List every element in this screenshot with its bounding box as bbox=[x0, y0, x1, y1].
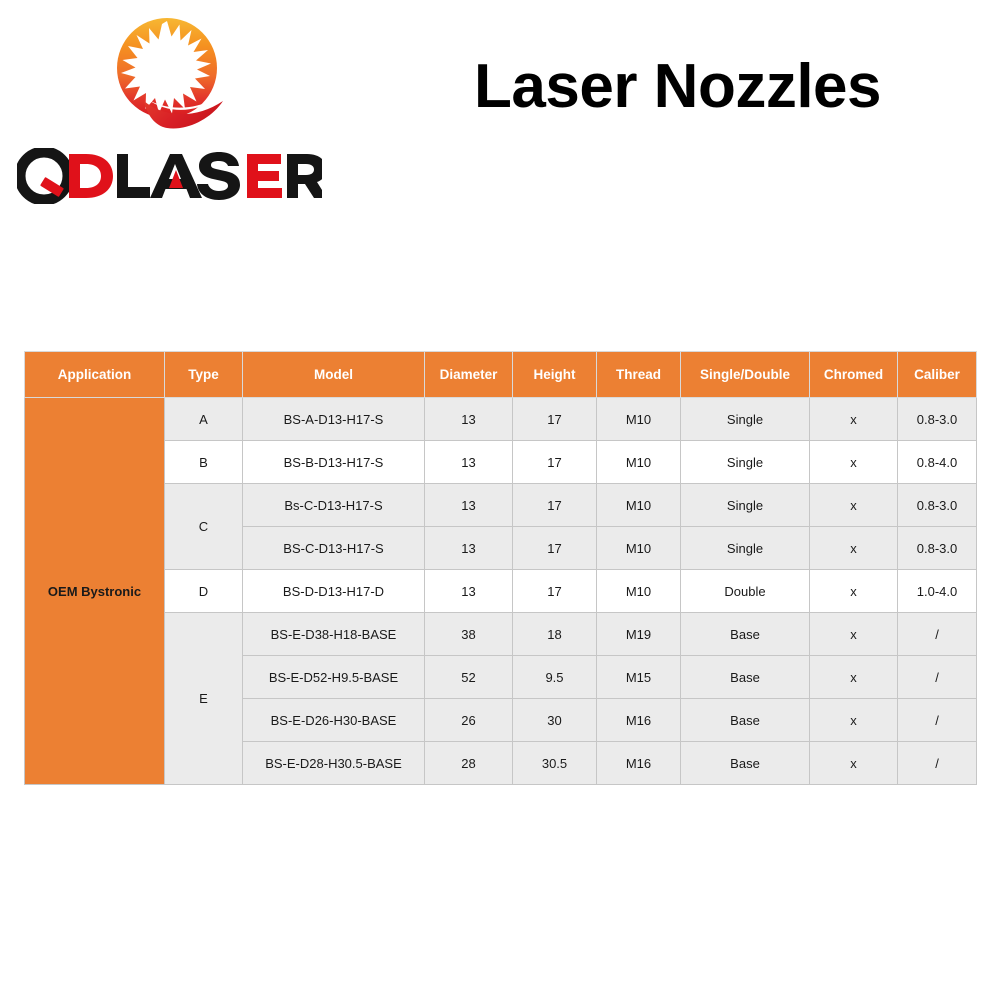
cell-caliber: 0.8-4.0 bbox=[898, 441, 977, 484]
cell-application: OEM Bystronic bbox=[25, 398, 165, 785]
cell-chromed: x bbox=[810, 398, 898, 441]
page-header: Laser Nozzles bbox=[0, 0, 1000, 330]
column-header-height: Height bbox=[513, 352, 597, 398]
cell-model: BS-E-D28-H30.5-BASE bbox=[243, 742, 425, 785]
cell-caliber: 0.8-3.0 bbox=[898, 484, 977, 527]
cell-single-double: Single bbox=[681, 398, 810, 441]
cell-chromed: x bbox=[810, 527, 898, 570]
spec-table-container: Application Type Model Diameter Height T… bbox=[24, 351, 976, 785]
cell-type: B bbox=[165, 441, 243, 484]
cell-single-double: Base bbox=[681, 742, 810, 785]
cell-single-double: Single bbox=[681, 484, 810, 527]
cell-height: 30.5 bbox=[513, 742, 597, 785]
column-header-caliber: Caliber bbox=[898, 352, 977, 398]
cell-height: 18 bbox=[513, 613, 597, 656]
cell-single-double: Single bbox=[681, 527, 810, 570]
brand-block bbox=[8, 14, 328, 199]
column-header-model: Model bbox=[243, 352, 425, 398]
cell-chromed: x bbox=[810, 699, 898, 742]
cell-chromed: x bbox=[810, 613, 898, 656]
cell-thread: M10 bbox=[597, 570, 681, 613]
cell-caliber: / bbox=[898, 699, 977, 742]
cell-diameter: 13 bbox=[425, 398, 513, 441]
cell-model: BS-B-D13-H17-S bbox=[243, 441, 425, 484]
cell-single-double: Double bbox=[681, 570, 810, 613]
cell-type: C bbox=[165, 484, 243, 570]
cell-type: D bbox=[165, 570, 243, 613]
cell-model: BS-C-D13-H17-S bbox=[243, 527, 425, 570]
cell-chromed: x bbox=[810, 742, 898, 785]
table-body: OEM BystronicABS-A-D13-H17-S1317M10Singl… bbox=[25, 398, 977, 785]
cell-diameter: 38 bbox=[425, 613, 513, 656]
cell-diameter: 13 bbox=[425, 484, 513, 527]
table-row: OEM BystronicABS-A-D13-H17-S1317M10Singl… bbox=[25, 398, 977, 441]
cell-type: E bbox=[165, 613, 243, 785]
cell-thread: M10 bbox=[597, 527, 681, 570]
column-header-single-double: Single/Double bbox=[681, 352, 810, 398]
table-row: DBS-D-D13-H17-D1317M10Doublex1.0-4.0 bbox=[25, 570, 977, 613]
column-header-diameter: Diameter bbox=[425, 352, 513, 398]
cell-model: BS-E-D26-H30-BASE bbox=[243, 699, 425, 742]
table-header-row: Application Type Model Diameter Height T… bbox=[25, 352, 977, 398]
brand-wordmark bbox=[17, 148, 322, 204]
cell-thread: M16 bbox=[597, 699, 681, 742]
cell-caliber: / bbox=[898, 613, 977, 656]
cell-single-double: Base bbox=[681, 613, 810, 656]
cell-single-double: Base bbox=[681, 656, 810, 699]
cell-diameter: 52 bbox=[425, 656, 513, 699]
cell-model: BS-A-D13-H17-S bbox=[243, 398, 425, 441]
cell-height: 17 bbox=[513, 570, 597, 613]
cell-chromed: x bbox=[810, 484, 898, 527]
cell-type: A bbox=[165, 398, 243, 441]
nozzle-spec-table: Application Type Model Diameter Height T… bbox=[24, 351, 977, 785]
cell-thread: M10 bbox=[597, 398, 681, 441]
cell-thread: M15 bbox=[597, 656, 681, 699]
cell-height: 9.5 bbox=[513, 656, 597, 699]
cell-diameter: 28 bbox=[425, 742, 513, 785]
column-header-application: Application bbox=[25, 352, 165, 398]
cell-diameter: 13 bbox=[425, 570, 513, 613]
cell-model: BS-E-D52-H9.5-BASE bbox=[243, 656, 425, 699]
cell-thread: M19 bbox=[597, 613, 681, 656]
cell-model: BS-E-D38-H18-BASE bbox=[243, 613, 425, 656]
cell-chromed: x bbox=[810, 441, 898, 484]
cell-model: Bs-C-D13-H17-S bbox=[243, 484, 425, 527]
cell-caliber: 1.0-4.0 bbox=[898, 570, 977, 613]
cell-thread: M10 bbox=[597, 484, 681, 527]
sun-swoosh-logo-icon bbox=[111, 16, 233, 141]
cell-height: 30 bbox=[513, 699, 597, 742]
cell-height: 17 bbox=[513, 398, 597, 441]
table-row: EBS-E-D38-H18-BASE3818M19Basex/ bbox=[25, 613, 977, 656]
cell-diameter: 13 bbox=[425, 527, 513, 570]
cell-caliber: / bbox=[898, 656, 977, 699]
cell-height: 17 bbox=[513, 527, 597, 570]
table-row: CBs-C-D13-H17-S1317M10Singlex0.8-3.0 bbox=[25, 484, 977, 527]
column-header-type: Type bbox=[165, 352, 243, 398]
page-title: Laser Nozzles bbox=[474, 56, 881, 118]
column-header-chromed: Chromed bbox=[810, 352, 898, 398]
cell-height: 17 bbox=[513, 441, 597, 484]
cell-caliber: / bbox=[898, 742, 977, 785]
table-row: BBS-B-D13-H17-S1317M10Singlex0.8-4.0 bbox=[25, 441, 977, 484]
cell-chromed: x bbox=[810, 656, 898, 699]
cell-caliber: 0.8-3.0 bbox=[898, 527, 977, 570]
cell-thread: M10 bbox=[597, 441, 681, 484]
cell-single-double: Base bbox=[681, 699, 810, 742]
cell-height: 17 bbox=[513, 484, 597, 527]
column-header-thread: Thread bbox=[597, 352, 681, 398]
cell-diameter: 13 bbox=[425, 441, 513, 484]
cell-model: BS-D-D13-H17-D bbox=[243, 570, 425, 613]
cell-diameter: 26 bbox=[425, 699, 513, 742]
cell-single-double: Single bbox=[681, 441, 810, 484]
cell-caliber: 0.8-3.0 bbox=[898, 398, 977, 441]
cell-chromed: x bbox=[810, 570, 898, 613]
cell-thread: M16 bbox=[597, 742, 681, 785]
